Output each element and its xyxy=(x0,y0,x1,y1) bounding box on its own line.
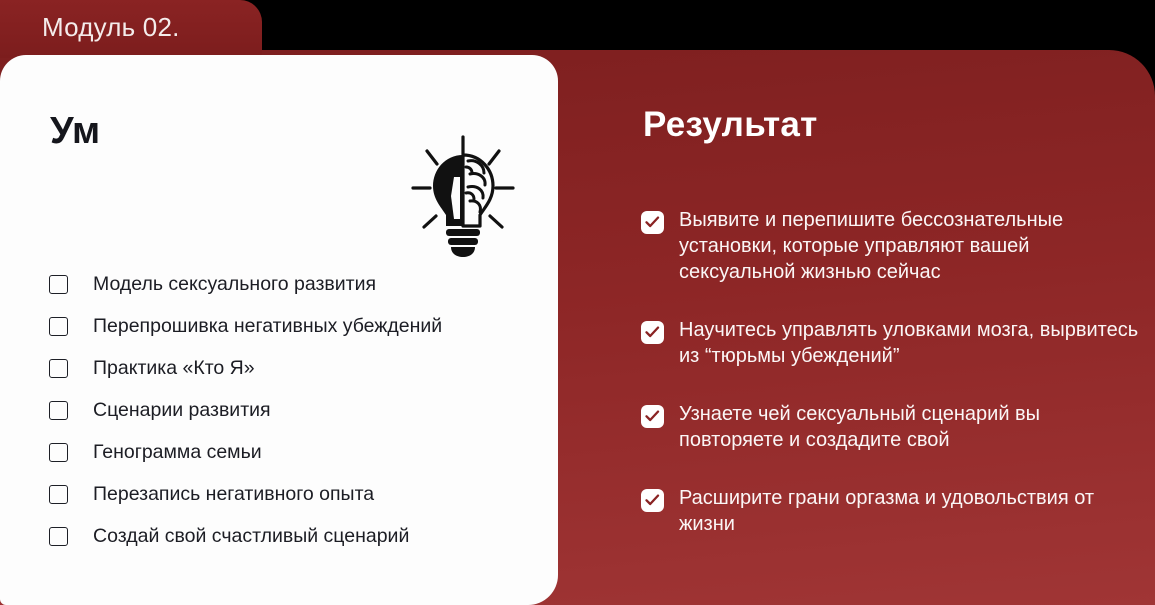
result-column: Результат Выявите и перепишите бессознат… xyxy=(641,105,1146,569)
module-tab[interactable]: Модуль 02. xyxy=(0,0,262,58)
list-item[interactable]: Модель сексуального развития xyxy=(49,263,539,305)
checkbox-unchecked-icon[interactable] xyxy=(49,527,68,546)
result-item-text: Узнаете чей сексуальный сценарий вы повт… xyxy=(679,401,1146,453)
list-item-label: Сценарии развития xyxy=(93,399,271,422)
left-checklist: Модель сексуального развития Перепрошивк… xyxy=(49,263,539,557)
result-item[interactable]: Научитесь управлять уловками мозга, вырв… xyxy=(641,317,1146,369)
result-item-text: Расширите грани оргазма и удовольствия о… xyxy=(679,485,1146,537)
list-item-label: Практика «Кто Я» xyxy=(93,357,255,380)
checkbox-unchecked-icon[interactable] xyxy=(49,317,68,336)
result-item[interactable]: Выявите и перепишите бессознательные уст… xyxy=(641,207,1146,285)
result-item[interactable]: Узнаете чей сексуальный сценарий вы повт… xyxy=(641,401,1146,453)
checkbox-unchecked-icon[interactable] xyxy=(49,359,68,378)
list-item[interactable]: Генограмма семьи xyxy=(49,431,539,473)
checkbox-unchecked-icon[interactable] xyxy=(49,443,68,462)
result-item-text: Научитесь управлять уловками мозга, вырв… xyxy=(679,317,1146,369)
list-item-label: Перепрошивка негативных убеждений xyxy=(93,315,442,338)
checkbox-unchecked-icon[interactable] xyxy=(49,401,68,420)
list-item[interactable]: Сценарии развития xyxy=(49,389,539,431)
slide-root: Модуль 02. Ум xyxy=(0,0,1155,605)
card-title: Ум xyxy=(50,110,100,153)
checkbox-checked-icon[interactable] xyxy=(641,321,664,344)
result-item[interactable]: Расширите грани оргазма и удовольствия о… xyxy=(641,485,1146,537)
list-item[interactable]: Перепрошивка негативных убеждений xyxy=(49,305,539,347)
result-title: Результат xyxy=(643,105,1146,145)
module-tab-label: Модуль 02. xyxy=(42,5,180,49)
list-item[interactable]: Перезапись негативного опыта xyxy=(49,473,539,515)
result-item-text: Выявите и перепишите бессознательные уст… xyxy=(679,207,1146,285)
list-item-label: Модель сексуального развития xyxy=(93,273,376,296)
left-white-card: Ум xyxy=(0,55,558,605)
checkbox-checked-icon[interactable] xyxy=(641,211,664,234)
lightbulb-brain-icon xyxy=(404,133,522,257)
list-item-label: Генограмма семьи xyxy=(93,441,262,464)
checkbox-unchecked-icon[interactable] xyxy=(49,485,68,504)
checkbox-checked-icon[interactable] xyxy=(641,489,664,512)
checkbox-checked-icon[interactable] xyxy=(641,405,664,428)
list-item-label: Создай свой счастливый сценарий xyxy=(93,525,409,548)
list-item[interactable]: Практика «Кто Я» xyxy=(49,347,539,389)
list-item-label: Перезапись негативного опыта xyxy=(93,483,374,506)
list-item[interactable]: Создай свой счастливый сценарий xyxy=(49,515,539,557)
checkbox-unchecked-icon[interactable] xyxy=(49,275,68,294)
